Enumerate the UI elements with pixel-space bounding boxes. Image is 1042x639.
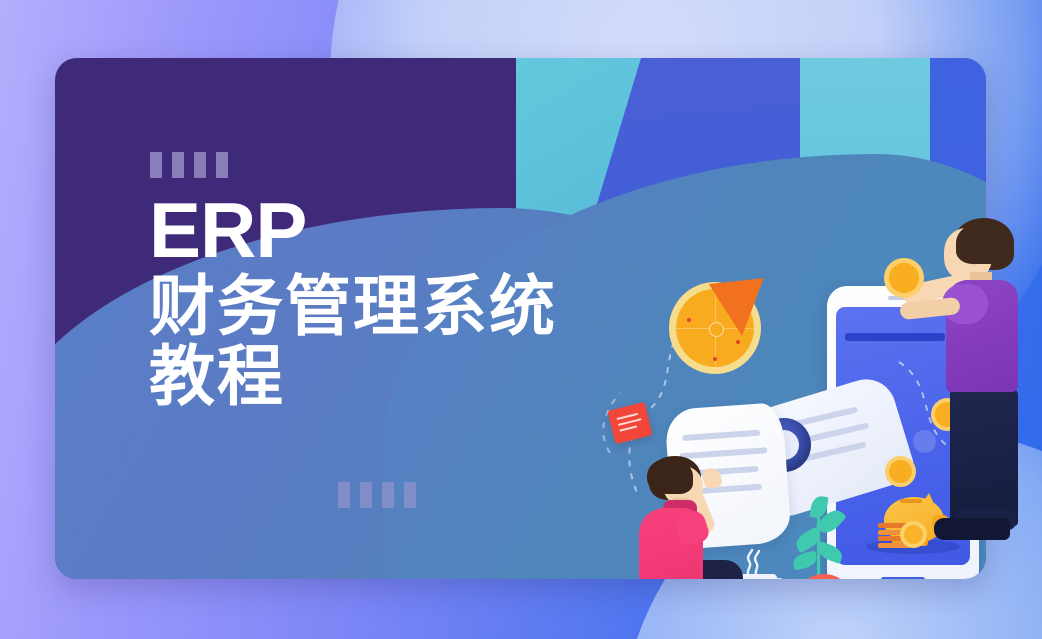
decorative-bars-middle	[338, 482, 416, 508]
page-title-cn-line1: 财务管理系统	[149, 272, 557, 342]
deco-bar	[194, 152, 206, 178]
seated-person-illustration	[633, 456, 753, 579]
gauge-marker	[736, 340, 740, 344]
deco-bar	[216, 152, 228, 178]
potted-plant-icon	[791, 498, 851, 579]
standing-person-illustration	[930, 218, 1040, 568]
deco-bar	[404, 482, 416, 508]
banner-card: ERP 财务管理系统 教程	[55, 58, 986, 579]
coin-icon	[900, 521, 927, 548]
deco-bar	[338, 482, 350, 508]
person-legs	[950, 386, 1018, 526]
plant-pot	[801, 574, 847, 579]
title-block: ERP 财务管理系统 教程	[149, 193, 557, 412]
page-title-cn-line2: 教程	[149, 342, 557, 412]
gauge-marker	[713, 357, 717, 361]
decorative-bars-top	[150, 152, 228, 178]
note-line	[619, 425, 637, 431]
person-hair	[956, 222, 1010, 264]
page-title-en: ERP	[149, 193, 557, 268]
deco-bar	[150, 152, 162, 178]
deco-bar	[382, 482, 394, 508]
deco-bar	[172, 152, 184, 178]
person-shoe	[934, 518, 1010, 540]
gauge-marker	[687, 318, 691, 322]
plant-leaf	[792, 551, 819, 571]
person-hand	[701, 466, 723, 490]
person-hair-front	[647, 458, 693, 494]
deco-bar	[360, 482, 372, 508]
gauge-hub	[709, 322, 724, 337]
phone-home-indicator	[881, 577, 925, 579]
coin-icon	[884, 258, 924, 298]
note-line	[618, 418, 642, 426]
pie-chart-gauge-icon	[669, 282, 761, 374]
banner-canvas: ERP 财务管理系统 教程	[0, 0, 1042, 639]
coin-icon	[885, 456, 916, 487]
